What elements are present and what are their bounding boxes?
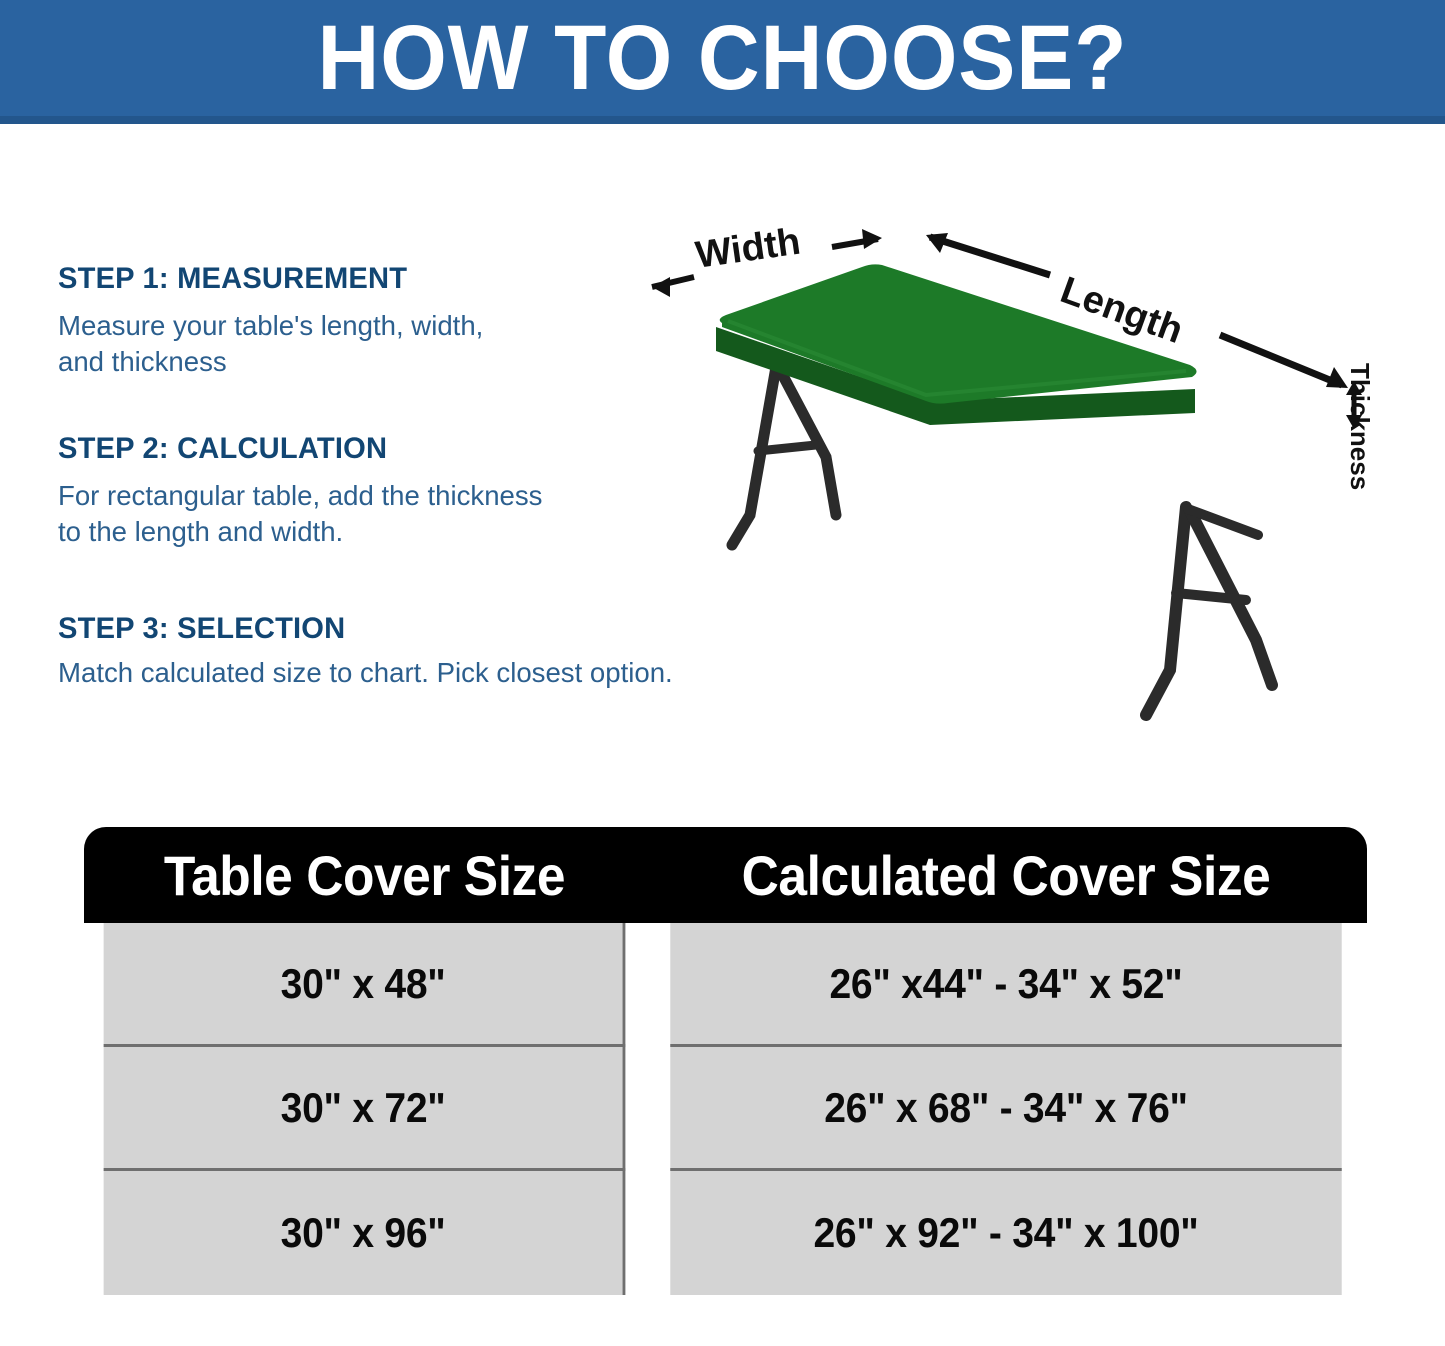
column-header-table-cover-size: Table Cover Size	[106, 827, 622, 923]
page-title: HOW TO CHOOSE?	[51, 4, 1395, 112]
page-header-banner: HOW TO CHOOSE?	[0, 0, 1445, 116]
step-2-description-line-1: For rectangular table, add the thickness	[58, 478, 542, 514]
step-3-description-line-1: Match calculated size to chart. Pick clo…	[58, 655, 673, 691]
folding-table-graphic	[630, 215, 1430, 775]
step-1-description-line-1: Measure your table's length, width,	[58, 308, 483, 344]
step-1-heading: STEP 1: MEASUREMENT	[58, 262, 477, 296]
step-2-description: For rectangular table, add the thickness…	[58, 478, 542, 550]
cell-table-cover-size: 30" x 72"	[104, 1047, 626, 1171]
step-2-heading: STEP 2: CALCULATION	[58, 432, 535, 466]
cell-calculated-cover-size: 26" x 68" - 34" x 76"	[670, 1047, 1341, 1171]
size-chart-body: 30" x 48" 26" x44" - 34" x 52" 30" x 72"…	[84, 923, 1367, 1295]
step-1-description-line-2: and thickness	[58, 344, 483, 380]
size-chart-header-row: Table Cover Size Calculated Cover Size	[84, 827, 1367, 923]
banner-bottom-stripe	[0, 116, 1445, 124]
step-3-block: STEP 3: SELECTION Match calculated size …	[58, 612, 682, 691]
step-3-description: Match calculated size to chart. Pick clo…	[58, 655, 673, 691]
cell-calculated-cover-size: 26" x 92" - 34" x 100"	[670, 1171, 1341, 1295]
step-3-heading: STEP 3: SELECTION	[58, 612, 663, 646]
table-row: 30" x 96" 26" x 92" - 34" x 100"	[84, 1171, 1367, 1295]
step-2-block: STEP 2: CALCULATION For rectangular tabl…	[58, 432, 550, 550]
table-row: 30" x 72" 26" x 68" - 34" x 76"	[84, 1047, 1367, 1171]
thickness-label: Thickness	[1344, 363, 1375, 490]
cell-table-cover-size: 30" x 48"	[104, 923, 626, 1047]
cell-table-cover-size: 30" x 96"	[104, 1171, 626, 1295]
step-2-description-line-2: to the length and width.	[58, 514, 542, 550]
folding-table-illustration: Width Length Thickness	[630, 215, 1430, 775]
size-chart-table: Table Cover Size Calculated Cover Size 3…	[84, 827, 1367, 1295]
column-header-calculated-cover-size: Calculated Cover Size	[674, 827, 1338, 923]
step-1-description: Measure your table's length, width, and …	[58, 308, 483, 380]
cell-calculated-cover-size: 26" x44" - 34" x 52"	[670, 923, 1341, 1047]
table-row: 30" x 48" 26" x44" - 34" x 52"	[84, 923, 1367, 1047]
step-1-block: STEP 1: MEASUREMENT Measure your table's…	[58, 262, 490, 380]
